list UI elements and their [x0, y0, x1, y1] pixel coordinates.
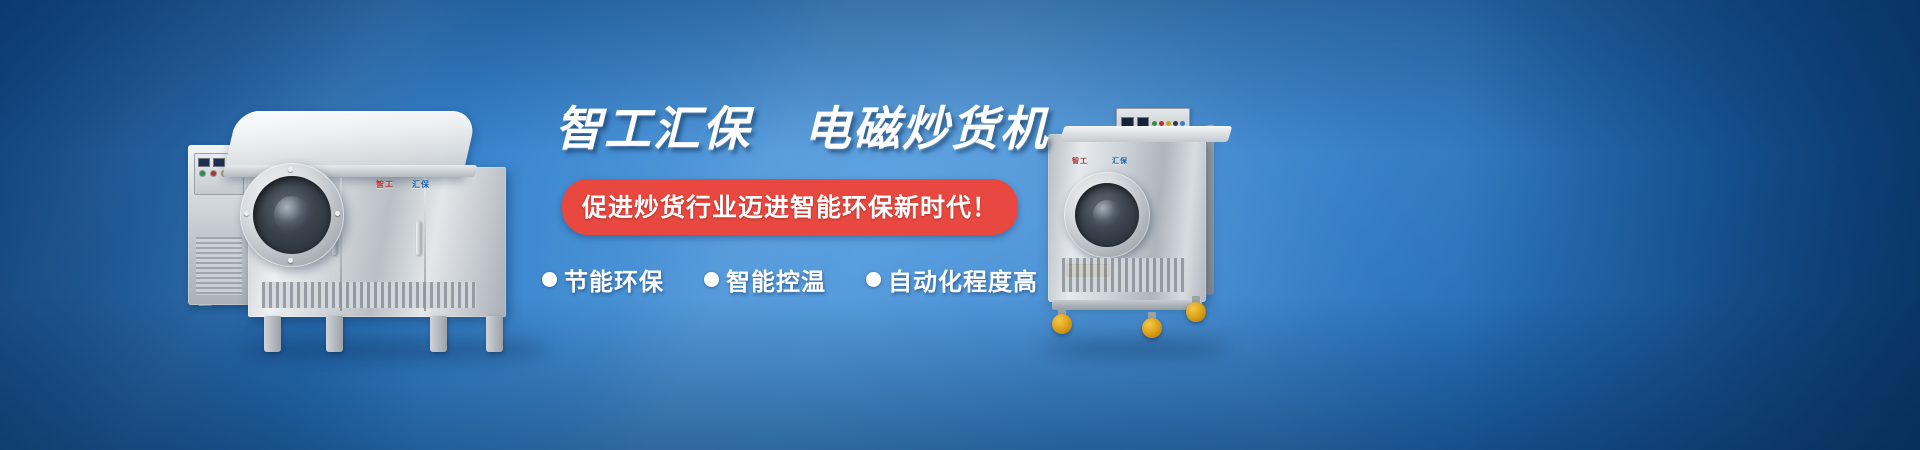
caster-wheel	[1186, 296, 1206, 316]
drum-glass-reflection	[274, 196, 310, 233]
power-button	[1180, 121, 1185, 126]
drum-glass-reflection	[1093, 200, 1121, 229]
brand-badge-left: 智工	[376, 179, 394, 190]
feature-label: 节能环保	[564, 262, 664, 297]
drum-opening	[253, 176, 331, 254]
start-knob	[199, 170, 206, 177]
headline-brand: 智工汇保	[555, 102, 751, 157]
start-button	[1152, 121, 1157, 126]
banner-headline: 智工汇保 电磁炒货机	[555, 105, 1025, 155]
slogan-pill: 促进炒货行业迈进智能环保新时代！	[562, 179, 1018, 235]
drum-bolt	[244, 211, 249, 216]
feature-label: 智能控温	[726, 262, 826, 297]
filled-circle-bullet-icon	[542, 272, 557, 287]
machine-cabinet: 智工 汇保	[1048, 134, 1206, 302]
drum-bolt	[335, 211, 340, 216]
feature-label: 自动化程度高	[888, 262, 1038, 297]
cabinet-top	[1060, 126, 1233, 142]
wheel	[1142, 318, 1162, 338]
base-frame	[1052, 300, 1202, 310]
right-machine-illustration: 智工 汇保	[1030, 100, 1230, 350]
brand-badge-right: 汇保	[412, 179, 430, 190]
banner-copy: 智工汇保 电磁炒货机 促进炒货行业迈进智能环保新时代！ 节能环保 智能控温 自动…	[555, 105, 1025, 297]
wheel	[1186, 302, 1206, 322]
feature-item: 节能环保	[542, 262, 664, 297]
feature-item: 智能控温	[704, 262, 826, 297]
drum-opening	[1075, 183, 1139, 247]
drum-bolt	[288, 167, 293, 172]
door-handle	[416, 221, 421, 255]
roasting-drum	[240, 163, 344, 267]
cabinet-vent-grille	[1062, 258, 1186, 292]
machine-leg	[430, 316, 447, 352]
setting-button	[1173, 121, 1178, 126]
drum-bolt	[288, 258, 293, 263]
stop-button	[1159, 121, 1164, 126]
filled-circle-bullet-icon	[866, 272, 881, 287]
button-cluster	[1152, 121, 1185, 126]
filled-circle-bullet-icon	[704, 272, 719, 287]
roasting-drum	[1064, 172, 1150, 258]
promo-banner: 智工 汇保	[0, 0, 1920, 450]
temperature-display	[198, 158, 210, 167]
stop-knob	[210, 170, 217, 177]
machine-leg	[264, 316, 281, 352]
feature-list: 节能环保 智能控温 自动化程度高	[555, 262, 1025, 297]
machine-leg	[326, 316, 343, 352]
left-machine-illustration: 智工 汇保	[180, 105, 550, 350]
caster-wheel	[1142, 312, 1162, 332]
wheel	[1052, 314, 1072, 334]
mode-button	[1166, 121, 1171, 126]
control-cabinet-vent	[196, 237, 242, 295]
body-vent-grille	[262, 282, 476, 308]
machine-leg	[486, 316, 503, 352]
feature-item: 自动化程度高	[866, 262, 1038, 297]
caster-wheel	[1052, 308, 1072, 328]
timer-display	[213, 158, 225, 167]
brand-badge-left: 智工	[1072, 156, 1088, 166]
headline-product: 电磁炒货机	[804, 102, 1049, 157]
brand-badge-right: 汇保	[1112, 156, 1128, 166]
